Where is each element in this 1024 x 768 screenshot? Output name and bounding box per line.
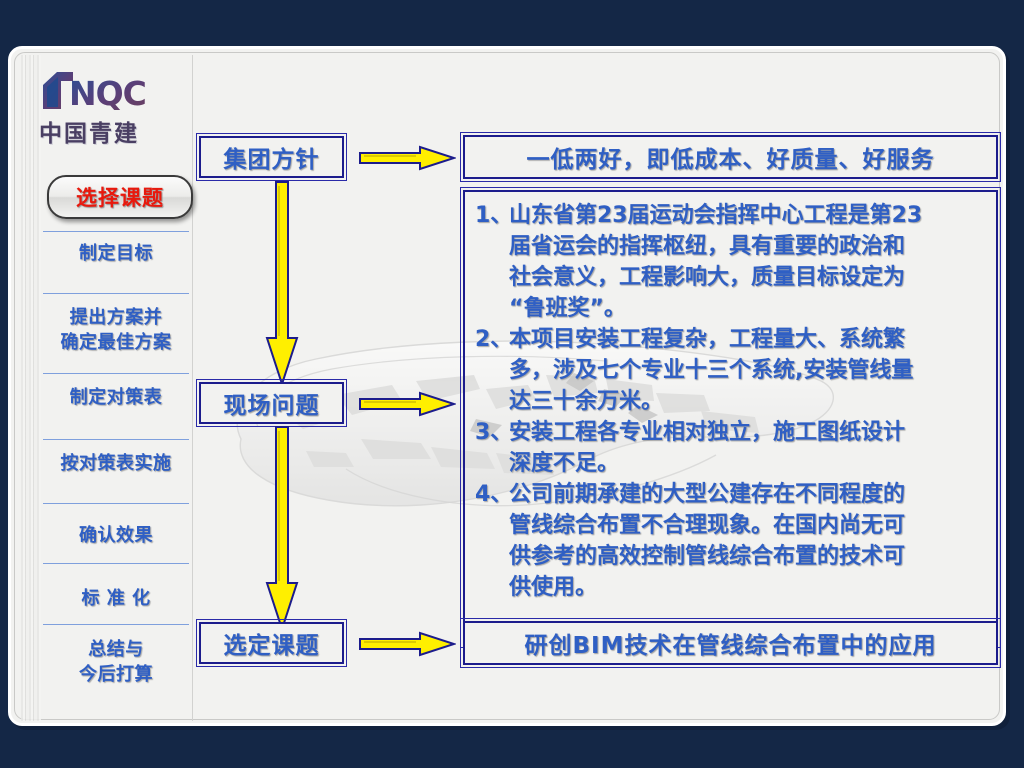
problem-item-line: 达三十余万米。: [509, 386, 986, 417]
sidebar-item-label: 选择课题: [76, 182, 164, 212]
problem-item-line: 公司前期承建的大型公建存在不同程度的: [509, 479, 986, 510]
problem-item-line: 本项目安装工程复杂，工程量大、系统繁: [509, 324, 986, 355]
arrow-policy-to-statement-icon: [358, 145, 456, 171]
flow-node-group-policy[interactable]: 集团方针: [199, 136, 344, 178]
sidebar-item-countermeasure-table[interactable]: 制定对策表: [41, 385, 191, 410]
flow-node-site-problem[interactable]: 现场问题: [199, 382, 344, 424]
problem-list-item: 4、 公司前期承建的大型公建存在不同程度的 管线综合布置不合理现象。在国内尚无可…: [475, 479, 986, 603]
problem-item-line: “鲁班奖”。: [509, 293, 986, 324]
problem-list-item: 1、 山东省第23届运动会指挥中心工程是第23 届省运会的指挥枢纽，具有重要的政…: [475, 200, 986, 324]
sidebar-item-label-line1: 总结与: [41, 637, 191, 662]
problem-item-line: 山东省第23届运动会指挥中心工程是第23: [509, 200, 986, 231]
sidebar-rule: [43, 293, 189, 294]
problem-item-line: 多，涉及七个专业十三个系统,安装管线量: [509, 355, 986, 386]
problem-list-item: 3、 安装工程各专业相对独立，施工图纸设计 深度不足。: [475, 417, 986, 479]
sidebar-item-label: 制定对策表: [70, 387, 163, 408]
sidebar-item-label: 确认效果: [79, 525, 153, 546]
slide-panel: NQC 中国青建 选择课题 制定目标 提出方案并 确定最佳方案 制定对策表: [8, 46, 1006, 726]
cnqc-logo-icon: NQC: [39, 69, 179, 113]
sidebar-divider: [192, 55, 193, 721]
flow-node-label: 选定课题: [224, 626, 320, 660]
sidebar-item-label-line1: 提出方案并: [41, 305, 191, 330]
flow-node-selected-topic[interactable]: 选定课题: [199, 622, 344, 664]
brand-logo: NQC 中国青建: [39, 69, 184, 148]
sidebar-rule: [43, 624, 189, 625]
sidebar-rule: [43, 503, 189, 504]
problem-list-box: 1、 山东省第23届运动会指挥中心工程是第23 届省运会的指挥枢纽，具有重要的政…: [463, 190, 998, 645]
flow-selected-topic-box[interactable]: 研创BIM技术在管线综合布置中的应用: [463, 621, 998, 665]
sidebar-item-label-line2: 确定最佳方案: [41, 330, 191, 355]
problem-item-number: 2、: [475, 324, 509, 417]
problem-item-text: 安装工程各专业相对独立，施工图纸设计 深度不足。: [509, 417, 986, 479]
sidebar-item-label: 标 准 化: [81, 588, 150, 609]
sidebar-rule: [43, 373, 189, 374]
problem-item-line: 供使用。: [509, 572, 986, 603]
sidebar-rule: [43, 231, 189, 232]
problem-item-number: 4、: [475, 479, 509, 603]
sidebar: NQC 中国青建 选择课题 制定目标 提出方案并 确定最佳方案 制定对策表: [21, 55, 193, 721]
problem-item-text: 公司前期承建的大型公建存在不同程度的 管线综合布置不合理现象。在国内尚无可 供参…: [509, 479, 986, 603]
flow-selected-topic-label: 研创BIM技术在管线综合布置中的应用: [525, 626, 937, 660]
sidebar-item-standardize[interactable]: 标 准 化: [41, 586, 191, 611]
sidebar-item-propose-plan[interactable]: 提出方案并 确定最佳方案: [41, 305, 191, 355]
sidebar-item-select-topic-active[interactable]: 选择课题: [47, 175, 193, 219]
arrow-policy-to-problem-icon: [264, 180, 300, 388]
slide-stage: NQC 中国青建 选择课题 制定目标 提出方案并 确定最佳方案 制定对策表: [0, 0, 1024, 768]
flow-node-label: 现场问题: [224, 386, 320, 420]
problem-item-text: 本项目安装工程复杂，工程量大、系统繁 多，涉及七个专业十三个系统,安装管线量 达…: [509, 324, 986, 417]
sidebar-stripe-decoration: [21, 55, 41, 721]
brand-name-cn: 中国青建: [39, 114, 184, 148]
sidebar-item-summary[interactable]: 总结与 今后打算: [41, 637, 191, 687]
problem-list-item: 2、 本项目安装工程复杂，工程量大、系统繁 多，涉及七个专业十三个系统,安装管线…: [475, 324, 986, 417]
svg-text:NQC: NQC: [69, 74, 146, 113]
problem-item-line: 社会意义，工程影响大，质量目标设定为: [509, 262, 986, 293]
flow-policy-statement-box[interactable]: 一低两好，即低成本、好质量、好服务: [463, 135, 998, 179]
problem-item-text: 山东省第23届运动会指挥中心工程是第23 届省运会的指挥枢纽，具有重要的政治和 …: [509, 200, 986, 324]
sidebar-item-label-line2: 今后打算: [41, 662, 191, 687]
problem-item-line: 管线综合布置不合理现象。在国内尚无可: [509, 510, 986, 541]
sidebar-item-set-goal[interactable]: 制定目标: [41, 241, 191, 266]
sidebar-item-label: 制定目标: [79, 243, 153, 264]
sidebar-item-label: 按对策表实施: [61, 453, 172, 474]
arrow-topic-to-selected-icon: [358, 631, 456, 657]
arrow-problem-to-topic-icon: [264, 425, 300, 633]
problem-item-number: 1、: [475, 200, 509, 324]
sidebar-rule: [43, 563, 189, 564]
problem-item-line: 供参考的高效控制管线综合布置的技术可: [509, 541, 986, 572]
sidebar-rule: [43, 439, 189, 440]
flow-policy-statement-label: 一低两好，即低成本、好质量、好服务: [527, 140, 935, 174]
problem-item-number: 3、: [475, 417, 509, 479]
sidebar-item-confirm-effect[interactable]: 确认效果: [41, 523, 191, 548]
problem-item-line: 届省运会的指挥枢纽，具有重要的政治和: [509, 231, 986, 262]
flow-node-label: 集团方针: [224, 140, 320, 174]
problem-item-line: 安装工程各专业相对独立，施工图纸设计: [509, 417, 986, 448]
arrow-problem-to-list-icon: [358, 391, 456, 417]
problem-item-line: 深度不足。: [509, 448, 986, 479]
sidebar-item-implement[interactable]: 按对策表实施: [41, 451, 191, 476]
